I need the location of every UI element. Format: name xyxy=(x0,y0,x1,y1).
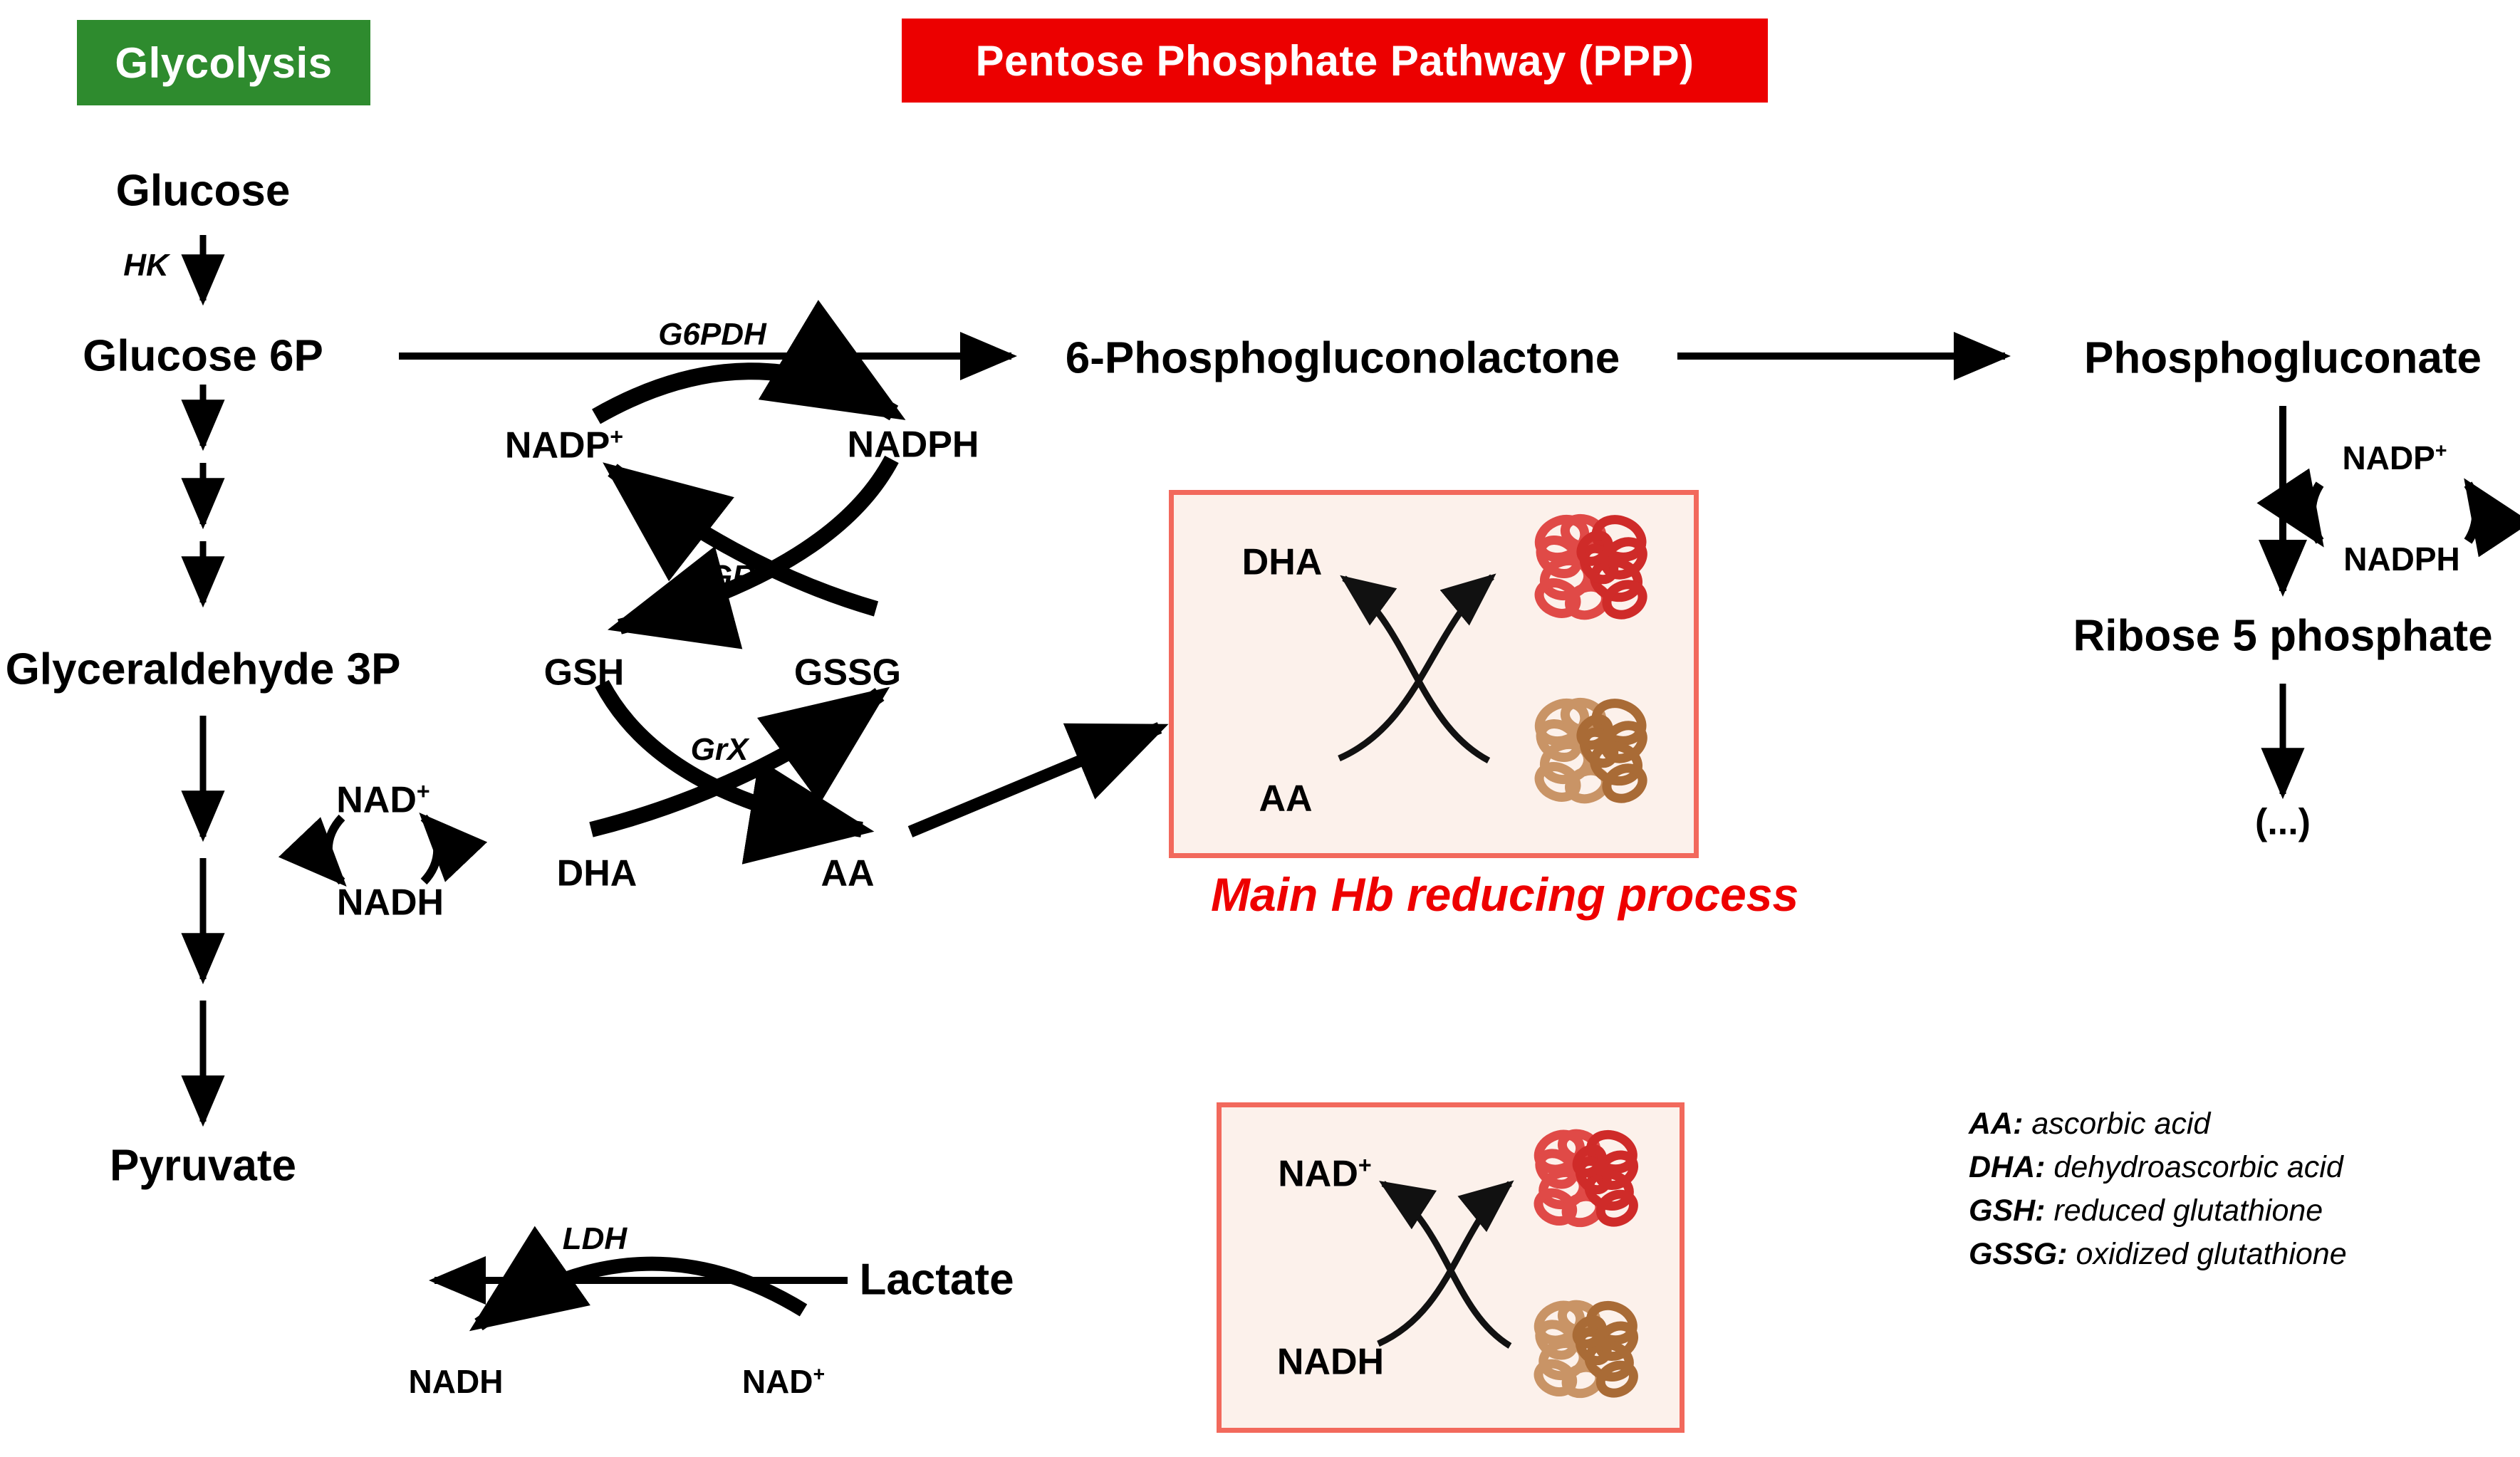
cofactor-label: NADP xyxy=(505,424,610,466)
cofactor-label: NAD xyxy=(336,779,417,820)
g6pdh-cofactor-arc xyxy=(596,371,894,417)
ldh-arrow xyxy=(434,1264,848,1325)
cofactor-nadph-r5p: NADPH xyxy=(2343,542,2460,576)
legend-abbr: DHA: xyxy=(1969,1150,2045,1184)
enzyme-gr: GR xyxy=(708,560,755,593)
nad-nadh-cycle-glycolysis xyxy=(328,818,437,882)
cofactor-label: NAD xyxy=(742,1363,813,1400)
node-pyruvate: Pyruvate xyxy=(110,1142,296,1189)
legend-definition: dehydroascorbic acid xyxy=(2045,1150,2343,1184)
pathway-diagram: Glycolysis Pentose Phosphate Pathway (PP… xyxy=(0,0,2520,1457)
hb-reducing-box-bottom xyxy=(1217,1102,1685,1433)
ppp-banner: Pentose Phosphate Pathway (PPP) xyxy=(902,19,1768,103)
legend-definition: reduced glutathione xyxy=(2046,1194,2323,1228)
charge-superscript: + xyxy=(813,1364,826,1386)
hbbox-bottom-label-nad-plus: NAD+ xyxy=(1278,1154,1372,1194)
enzyme-hk: HK xyxy=(123,249,169,282)
legend-item: GSSG: oxidized glutathione xyxy=(1969,1233,2347,1276)
cofactor-dha: DHA xyxy=(557,855,637,894)
cofactor-label: NAD xyxy=(1278,1153,1358,1194)
node-ribose-5-phosphate: Ribose 5 phosphate xyxy=(2073,612,2492,659)
legend-definition: ascorbic acid xyxy=(2023,1107,2210,1141)
legend-definition: oxidized glutathione xyxy=(2068,1237,2347,1271)
node-lactate: Lactate xyxy=(859,1256,1014,1302)
enzyme-grx: GrX xyxy=(691,733,749,766)
charge-superscript: + xyxy=(417,778,430,804)
charge-superscript: + xyxy=(610,424,623,449)
node-glucose: Glucose xyxy=(116,167,291,214)
cofactor-aa: AA xyxy=(821,855,874,894)
cofactor-nadh-ldh: NADH xyxy=(409,1364,504,1399)
charge-superscript: + xyxy=(2435,440,2447,463)
cofactor-gsh: GSH xyxy=(544,654,625,693)
hbbox-bottom-label-nadh: NADH xyxy=(1277,1343,1384,1382)
legend-item: AA: ascorbic acid xyxy=(1969,1102,2347,1146)
cofactor-nad-plus-ldh: NAD+ xyxy=(742,1364,825,1399)
main-hb-reducing-process-caption: Main Hb reducing process xyxy=(1211,867,1798,921)
enzyme-ldh: LDH xyxy=(563,1223,627,1255)
aa-to-hbbox-arrow xyxy=(910,728,1160,832)
cofactor-label: NADP xyxy=(2343,439,2435,476)
legend-item: GSH: reduced glutathione xyxy=(1969,1189,2347,1233)
legend-abbr: GSSG: xyxy=(1969,1237,2068,1271)
abbreviation-legend: AA: ascorbic acid DHA: dehydroascorbic a… xyxy=(1969,1102,2347,1276)
legend-item: DHA: dehydroascorbic acid xyxy=(1969,1146,2347,1189)
node-glucose-6p: Glucose 6P xyxy=(83,333,323,379)
glycolysis-banner: Glycolysis xyxy=(77,20,370,105)
cofactor-nadp-plus-g6pdh: NADP+ xyxy=(505,425,623,465)
node-phosphogluconate: Phosphogluconate xyxy=(2084,335,2482,381)
nadp-nadph-cycle-r5p xyxy=(2311,484,2477,541)
node-6-phosphogluconolactone: 6-Phosphogluconolactone xyxy=(1066,335,1620,381)
cofactor-nadph-g6pdh: NADPH xyxy=(848,426,979,465)
legend-abbr: AA: xyxy=(1969,1107,2023,1141)
cofactor-nadp-plus-r5p: NADP+ xyxy=(2343,441,2447,475)
node-continues: (...) xyxy=(2255,803,2311,842)
node-glyceraldehyde-3p: Glyceraldehyde 3P xyxy=(6,646,401,692)
gr-crossover-arcs xyxy=(613,459,892,627)
enzyme-g6pdh: G6PDH xyxy=(658,318,766,351)
hbbox-top-label-dha: DHA xyxy=(1242,543,1323,583)
cofactor-gssg: GSSG xyxy=(794,654,901,693)
cofactor-nadh-gapdh: NADH xyxy=(337,884,444,923)
cofactor-nad-plus-gapdh: NAD+ xyxy=(336,780,430,820)
hbbox-top-label-aa: AA xyxy=(1259,780,1312,819)
legend-abbr: GSH: xyxy=(1969,1194,2046,1228)
charge-superscript: + xyxy=(1358,1152,1372,1178)
